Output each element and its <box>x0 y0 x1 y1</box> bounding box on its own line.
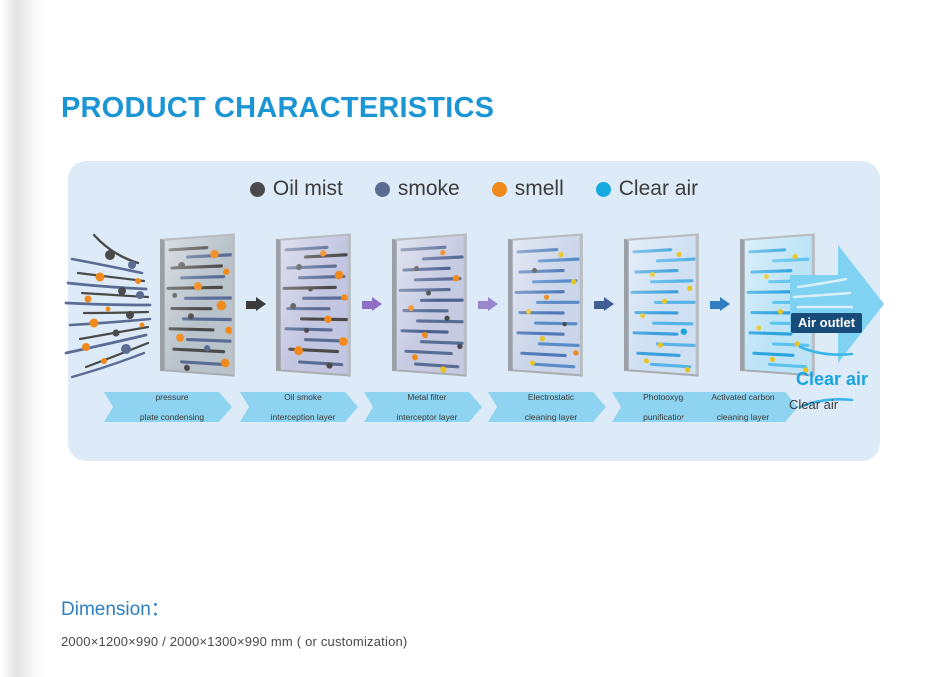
legend-item-smell: smell <box>492 177 564 201</box>
stage-label-line: Oil smoke <box>258 392 345 402</box>
legend-label: smoke <box>398 177 460 201</box>
stage-label-line: interceptor layer <box>384 412 467 422</box>
legend-item-oil-mist: Oil mist <box>250 177 343 201</box>
stage-label-line: Metal filter <box>384 392 467 402</box>
stage-label-arrow-2: Oil smoke interception layer <box>240 392 358 422</box>
page-title: PRODUCT CHARACTERISTICS <box>61 92 494 125</box>
stage-label-line: interception layer <box>258 412 345 422</box>
clear-air-swoosh-top-icon <box>798 345 854 357</box>
stage-connector-arrow-1 <box>246 297 266 312</box>
filter-plate-1 <box>160 239 234 371</box>
clear-air-callout: Clear air <box>796 369 868 390</box>
stage-connector-arrow-5 <box>710 297 730 312</box>
clear-air-row-label: Clear air <box>789 397 838 412</box>
stage-label-line: cleaning layer <box>698 412 783 422</box>
stage-connector-arrow-3 <box>478 297 498 312</box>
dimension-value: 2000×1200×990 / 2000×1300×990 mm ( or cu… <box>61 634 407 649</box>
dirty-air-inflow <box>64 229 160 379</box>
stage-label-arrow-4: Electrostatic cleaning layer <box>488 392 606 422</box>
legend-label: smell <box>515 177 564 201</box>
legend: Oil mist smoke smell Clear air <box>68 177 880 201</box>
stage-connector-arrow-4 <box>594 297 614 312</box>
filter-plate-5 <box>624 239 698 371</box>
legend-dot-icon <box>250 182 265 197</box>
stage-label-row: Fire negative pressure plate condensing … <box>68 392 880 430</box>
filter-plate-4 <box>508 239 582 371</box>
filter-plate-3 <box>392 239 466 371</box>
filter-plate-2 <box>276 239 350 371</box>
legend-label: Oil mist <box>273 177 343 201</box>
stage-label-arrow-1: Fire negative pressure plate condensing … <box>104 392 232 422</box>
filtration-stage-strip: Air outlet Clear air <box>68 229 880 379</box>
stage-label-line: Fire negative pressure <box>117 382 223 402</box>
legend-dot-icon <box>596 182 611 197</box>
air-outlet-badge: Air outlet <box>791 313 862 333</box>
legend-dot-icon <box>375 182 390 197</box>
legend-item-clear-air: Clear air <box>596 177 698 201</box>
stage-connector-arrow-2 <box>362 297 382 312</box>
stage-label-line: plate condensing layer <box>117 412 223 432</box>
stage-label-line: Electrostatic <box>512 392 586 402</box>
page-spine-shadow <box>0 0 46 677</box>
product-characteristics-diagram: Oil mist smoke smell Clear air <box>68 161 880 461</box>
stage-label-line: Activated carbon <box>698 392 783 402</box>
stage-label-arrow-6: Activated carbon cleaning layer <box>680 392 798 422</box>
legend-item-smoke: smoke <box>375 177 460 201</box>
legend-dot-icon <box>492 182 507 197</box>
stage-label-line: cleaning layer <box>512 412 586 422</box>
stage-label-arrow-3: Metal filter interceptor layer <box>364 392 482 422</box>
legend-label: Clear air <box>619 177 698 201</box>
dimension-title: Dimension： <box>61 594 170 621</box>
